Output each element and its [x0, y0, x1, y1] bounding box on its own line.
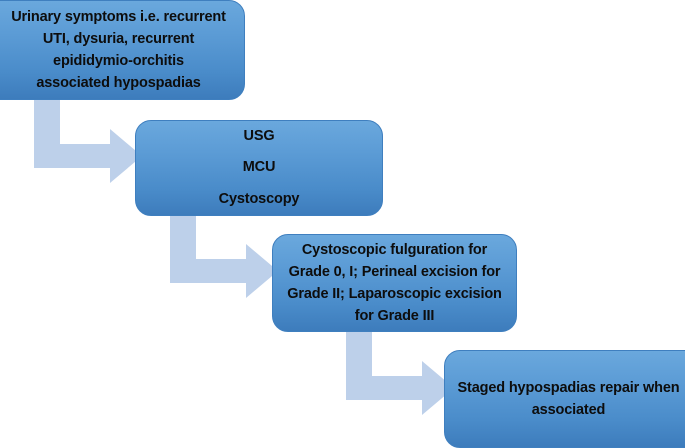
symptoms-node[interactable]: Urinary symptoms i.e. recurrent UTI, dys… — [0, 0, 245, 100]
symptoms-node-label: Urinary symptoms i.e. recurrent UTI, dys… — [0, 6, 244, 94]
flowchart-canvas: Urinary symptoms i.e. recurrent UTI, dys… — [0, 0, 685, 448]
procedure-node[interactable]: Cystoscopic fulguration for Grade 0, I; … — [272, 234, 517, 332]
procedure-node-label: Cystoscopic fulguration for Grade 0, I; … — [273, 239, 516, 327]
elbow-arrow-shape — [34, 96, 142, 183]
connector-arrow-3 — [346, 328, 458, 432]
repair-node-label: Staged hypospadias repair when associate… — [445, 377, 685, 421]
investigations-node[interactable]: USG MCU Cystoscopy — [135, 120, 383, 216]
elbow-arrow-shape — [170, 211, 278, 298]
connector-arrow-2 — [170, 211, 282, 315]
elbow-arrow-shape — [346, 328, 454, 415]
investigations-node-label: USG MCU Cystoscopy — [136, 121, 382, 215]
repair-node[interactable]: Staged hypospadias repair when associate… — [444, 350, 685, 448]
connector-arrow-1 — [34, 96, 144, 200]
